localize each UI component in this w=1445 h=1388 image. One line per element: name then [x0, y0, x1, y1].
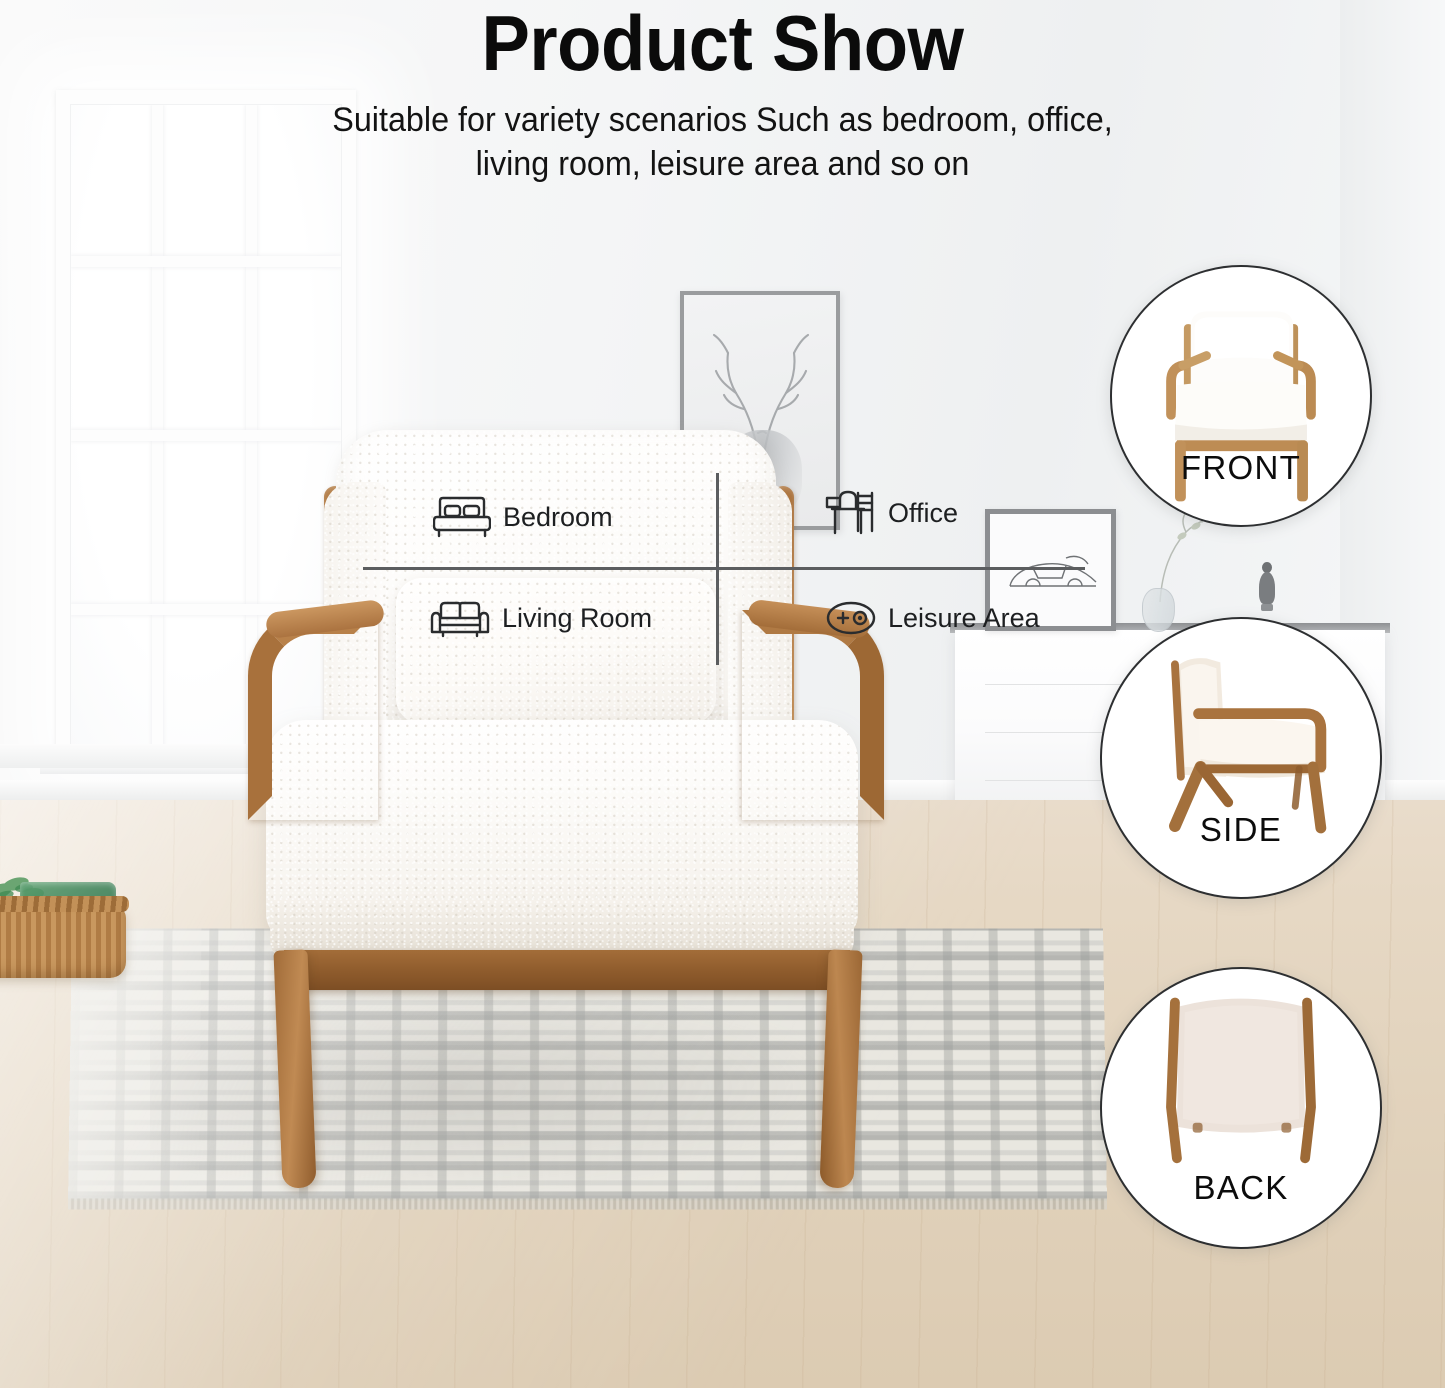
scenario-label: Living Room [502, 603, 652, 634]
chair-armrest-right [742, 610, 884, 820]
subtitle-line-1: Suitable for variety scenarios Such as b… [36, 98, 1409, 143]
scenario-item-bedroom: Bedroom [433, 495, 613, 539]
chair-front-rail [284, 950, 850, 990]
page-title: Product Show [51, 4, 1395, 84]
product-show-banner: Product Show Suitable for variety scenar… [0, 0, 1445, 1388]
scenario-label: Office [888, 498, 958, 529]
view-callout-front: FRONT [1110, 265, 1372, 527]
bed-icon [433, 495, 491, 539]
chair-armrest-left [248, 610, 378, 820]
scenario-item-living-room: Living Room [430, 598, 652, 638]
scenario-divider-vertical [716, 473, 719, 665]
office-chair-icon [824, 489, 876, 537]
rug-fringe [68, 1198, 1107, 1209]
scenario-label: Bedroom [503, 502, 613, 533]
chair-side-view [1102, 619, 1380, 897]
subtitle-line-2: living room, leisure area and so on [36, 142, 1409, 187]
view-label: BACK [1102, 1169, 1380, 1207]
figurine [1258, 562, 1276, 616]
scenario-list: Bedroom Office [0, 240, 1100, 420]
wicker-basket [0, 866, 126, 978]
basket-weave [0, 906, 126, 978]
scenario-label: Leisure Area [888, 603, 1040, 634]
basket-rim [0, 896, 129, 912]
scenario-item-office: Office [824, 489, 958, 537]
view-callout-side: SIDE [1100, 617, 1382, 899]
scenario-item-leisure-area: Leisure Area [826, 600, 1040, 636]
leisure-table-icon [826, 600, 876, 636]
car-illustration [1004, 552, 1104, 600]
view-label: FRONT [1112, 449, 1370, 487]
accent-armchair-main [248, 430, 888, 1190]
scenario-divider-horizontal [363, 567, 1085, 570]
view-callout-back: BACK [1100, 967, 1382, 1249]
subtitle: Suitable for variety scenarios Such as b… [36, 98, 1409, 188]
view-label: SIDE [1102, 811, 1380, 849]
header-block: Product Show Suitable for variety scenar… [0, 0, 1445, 187]
sofa-icon [430, 598, 490, 638]
